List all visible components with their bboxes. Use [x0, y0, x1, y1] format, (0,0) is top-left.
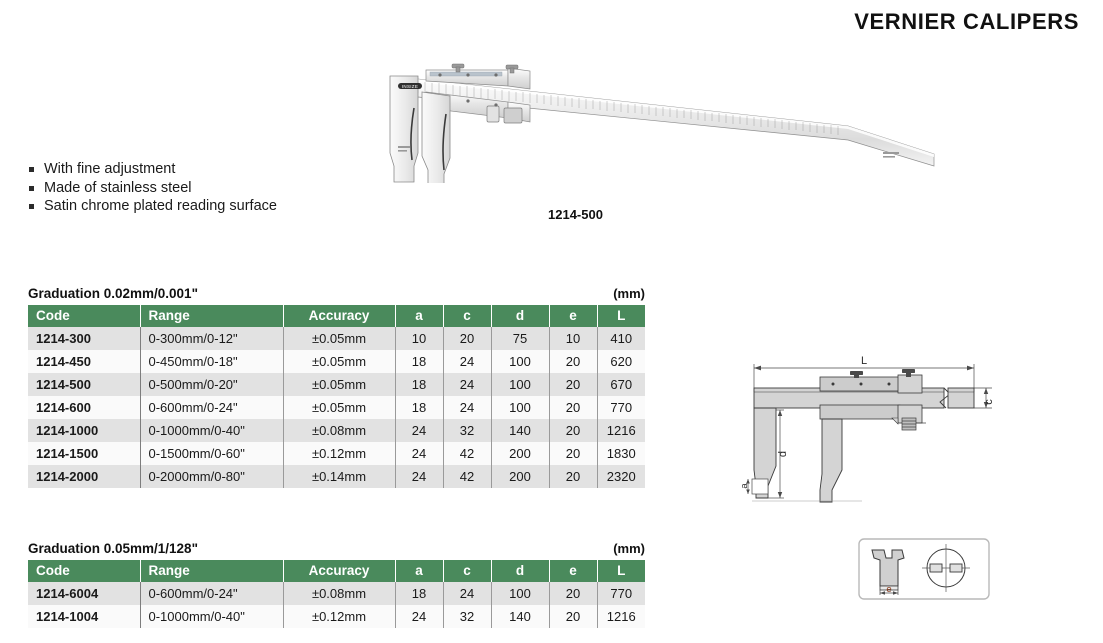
cell-l: 1216	[597, 419, 645, 442]
column-header-e[interactable]: e	[549, 560, 597, 582]
cell-l: 1830	[597, 442, 645, 465]
cell-d: 140	[491, 419, 549, 442]
cell-a: 18	[395, 582, 443, 605]
cell-accuracy: ±0.05mm	[283, 396, 395, 419]
cell-a: 18	[395, 373, 443, 396]
cell-code: 1214-1004	[28, 605, 140, 628]
cell-l: 670	[597, 373, 645, 396]
square-bullet-icon	[29, 186, 34, 191]
cell-c: 24	[443, 582, 491, 605]
dim-label-jaw-depth: d	[777, 451, 789, 457]
cell-c: 32	[443, 605, 491, 628]
cell-d: 100	[491, 396, 549, 419]
list-item: With fine adjustment	[28, 160, 277, 179]
cell-l: 1216	[597, 605, 645, 628]
cell-e: 20	[549, 582, 597, 605]
cell-c: 24	[443, 350, 491, 373]
cell-range: 0-600mm/0-24"	[140, 582, 283, 605]
list-item: Satin chrome plated reading surface	[28, 197, 277, 216]
table-caption-row: Graduation 0.02mm/0.001" (mm)	[28, 286, 645, 301]
table-header-row: Code Range Accuracy a c d e L	[28, 560, 645, 582]
table-row[interactable]: 1214-2000 0-2000mm/0-80" ±0.14mm 24 42 2…	[28, 465, 645, 488]
cell-a: 18	[395, 350, 443, 373]
svg-text:INSIZE: INSIZE	[402, 84, 418, 89]
spec-table: Code Range Accuracy a c d e L 1214-300 0…	[28, 305, 645, 488]
cell-c: 24	[443, 396, 491, 419]
cell-accuracy: ±0.12mm	[283, 442, 395, 465]
column-header-range[interactable]: Range	[140, 305, 283, 327]
cell-range: 0-500mm/0-20"	[140, 373, 283, 396]
cell-e: 20	[549, 373, 597, 396]
vernier-caliper-photo: INSIZE	[378, 48, 938, 183]
cell-code: 1214-600	[28, 396, 140, 419]
jaw-cross-section-diagram: e	[858, 538, 990, 606]
cell-d: 100	[491, 582, 549, 605]
cell-d: 140	[491, 605, 549, 628]
cell-accuracy: ±0.12mm	[283, 605, 395, 628]
cell-c: 42	[443, 465, 491, 488]
cell-c: 24	[443, 373, 491, 396]
column-header-e[interactable]: e	[549, 305, 597, 327]
cell-code: 1214-6004	[28, 582, 140, 605]
table-row[interactable]: 1214-6004 0-600mm/0-24" ±0.08mm 18 24 10…	[28, 582, 645, 605]
cell-code: 1214-300	[28, 327, 140, 350]
cell-c: 32	[443, 419, 491, 442]
cell-e: 20	[549, 350, 597, 373]
cell-e: 20	[549, 605, 597, 628]
spec-table-block-2: Graduation 0.05mm/1/128" (mm) Code Range…	[28, 541, 645, 628]
cell-a: 18	[395, 396, 443, 419]
cell-code: 1214-450	[28, 350, 140, 373]
column-header-code[interactable]: Code	[28, 560, 140, 582]
cell-accuracy: ±0.05mm	[283, 373, 395, 396]
column-header-l[interactable]: L	[597, 560, 645, 582]
feature-label: With fine adjustment	[44, 161, 175, 177]
feature-label: Satin chrome plated reading surface	[44, 198, 277, 214]
square-bullet-icon	[29, 167, 34, 172]
cell-a: 10	[395, 327, 443, 350]
column-header-c[interactable]: c	[443, 305, 491, 327]
cell-d: 100	[491, 350, 549, 373]
cell-e: 20	[549, 419, 597, 442]
table-row[interactable]: 1214-500 0-500mm/0-20" ±0.05mm 18 24 100…	[28, 373, 645, 396]
page-title: VERNIER CALIPERS	[854, 9, 1079, 35]
cell-d: 100	[491, 373, 549, 396]
dim-label-length: L	[861, 355, 867, 367]
cell-accuracy: ±0.08mm	[283, 582, 395, 605]
column-header-l[interactable]: L	[597, 305, 645, 327]
cell-e: 10	[549, 327, 597, 350]
dim-label-jaw-width: e	[886, 584, 891, 595]
column-header-range[interactable]: Range	[140, 560, 283, 582]
feature-label: Made of stainless steel	[44, 180, 192, 196]
dim-label-thickness: c	[983, 399, 995, 405]
list-item: Made of stainless steel	[28, 179, 277, 198]
table-row[interactable]: 1214-1004 0-1000mm/0-40" ±0.12mm 24 32 1…	[28, 605, 645, 628]
cell-c: 42	[443, 442, 491, 465]
column-header-d[interactable]: d	[491, 560, 549, 582]
caliper-dimension-diagram: L c	[742, 346, 1004, 506]
cell-range: 0-300mm/0-12"	[140, 327, 283, 350]
cell-accuracy: ±0.08mm	[283, 419, 395, 442]
cell-a: 24	[395, 465, 443, 488]
table-caption-row: Graduation 0.05mm/1/128" (mm)	[28, 541, 645, 556]
cell-l: 770	[597, 396, 645, 419]
column-header-accuracy[interactable]: Accuracy	[283, 560, 395, 582]
feature-list: With fine adjustment Made of stainless s…	[28, 160, 277, 216]
cell-code: 1214-1500	[28, 442, 140, 465]
table-row[interactable]: 1214-1500 0-1500mm/0-60" ±0.12mm 24 42 2…	[28, 442, 645, 465]
table-caption: Graduation 0.02mm/0.001"	[28, 286, 198, 301]
cell-range: 0-2000mm/0-80"	[140, 465, 283, 488]
square-bullet-icon	[29, 204, 34, 209]
cell-e: 20	[549, 396, 597, 419]
cell-l: 410	[597, 327, 645, 350]
cell-accuracy: ±0.05mm	[283, 350, 395, 373]
spec-table-block-1: Graduation 0.02mm/0.001" (mm) Code Range…	[28, 286, 645, 488]
column-header-c[interactable]: c	[443, 560, 491, 582]
cell-accuracy: ±0.05mm	[283, 327, 395, 350]
cell-e: 20	[549, 465, 597, 488]
cell-d: 200	[491, 465, 549, 488]
cell-code: 1214-2000	[28, 465, 140, 488]
table-header-row: Code Range Accuracy a c d e L	[28, 305, 645, 327]
dim-label-step: a	[742, 483, 750, 489]
table-row[interactable]: 1214-600 0-600mm/0-24" ±0.05mm 18 24 100…	[28, 396, 645, 419]
cell-range: 0-1000mm/0-40"	[140, 419, 283, 442]
product-code-label: 1214-500	[548, 207, 603, 222]
cell-range: 0-1500mm/0-60"	[140, 442, 283, 465]
table-row[interactable]: 1214-300 0-300mm/0-12" ±0.05mm 10 20 75 …	[28, 327, 645, 350]
table-unit-note: (mm)	[613, 541, 645, 556]
column-header-a[interactable]: a	[395, 305, 443, 327]
cell-d: 75	[491, 327, 549, 350]
column-header-accuracy[interactable]: Accuracy	[283, 305, 395, 327]
cell-l: 620	[597, 350, 645, 373]
cell-code: 1214-500	[28, 373, 140, 396]
table-unit-note: (mm)	[613, 286, 645, 301]
cell-range: 0-1000mm/0-40"	[140, 605, 283, 628]
table-caption: Graduation 0.05mm/1/128"	[28, 541, 198, 556]
cell-a: 24	[395, 419, 443, 442]
table-row[interactable]: 1214-450 0-450mm/0-18" ±0.05mm 18 24 100…	[28, 350, 645, 373]
cell-l: 770	[597, 582, 645, 605]
table-row[interactable]: 1214-1000 0-1000mm/0-40" ±0.08mm 24 32 1…	[28, 419, 645, 442]
cell-e: 20	[549, 442, 597, 465]
cell-c: 20	[443, 327, 491, 350]
cell-d: 200	[491, 442, 549, 465]
column-header-d[interactable]: d	[491, 305, 549, 327]
cell-code: 1214-1000	[28, 419, 140, 442]
column-header-a[interactable]: a	[395, 560, 443, 582]
cell-range: 0-450mm/0-18"	[140, 350, 283, 373]
cell-a: 24	[395, 442, 443, 465]
cell-accuracy: ±0.14mm	[283, 465, 395, 488]
cell-a: 24	[395, 605, 443, 628]
spec-table: Code Range Accuracy a c d e L 1214-6004 …	[28, 560, 645, 628]
cell-range: 0-600mm/0-24"	[140, 396, 283, 419]
column-header-code[interactable]: Code	[28, 305, 140, 327]
cell-l: 2320	[597, 465, 645, 488]
